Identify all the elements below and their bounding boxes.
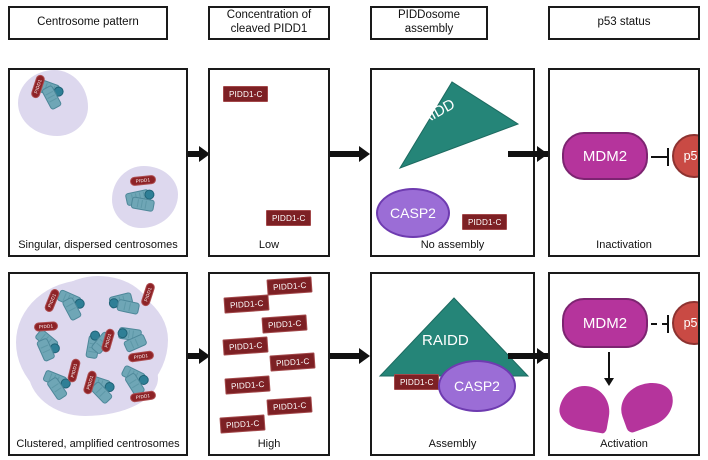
pidd1-label: PIDD1 bbox=[86, 375, 95, 390]
pidd1c-tag: PIDD1-C bbox=[224, 375, 270, 394]
pidd1c-tag: PIDD1-C bbox=[394, 374, 439, 390]
p53-label: p53 bbox=[684, 149, 700, 163]
pidd1c-tag: PIDD1-C bbox=[266, 210, 311, 226]
panel-caption: Assembly bbox=[372, 438, 533, 450]
cleavage-arrow bbox=[604, 352, 614, 388]
pidd1c-tag: PIDD1-C bbox=[219, 414, 265, 433]
panel-caption: Inactivation bbox=[550, 239, 698, 251]
header-label-line1: Concentration of bbox=[227, 9, 311, 23]
pidd1c-label: PIDD1-C bbox=[272, 214, 305, 223]
pidd1-label: PIDD1 bbox=[70, 363, 78, 378]
mdm2-shape: MDM2 bbox=[562, 132, 648, 180]
header-label-line1: PIDDosome bbox=[398, 9, 460, 23]
mdm2-fragment bbox=[557, 382, 614, 434]
pidd1c-tag: PIDD1-C bbox=[266, 396, 312, 415]
inhibition-line-dashed bbox=[651, 323, 668, 325]
inhibition-line bbox=[651, 156, 668, 158]
inhibition-bar bbox=[667, 315, 669, 333]
pidd1c-label: PIDD1-C bbox=[229, 90, 262, 99]
raidd-label: RAIDD bbox=[422, 332, 469, 349]
panel-caption: Activation bbox=[550, 438, 698, 450]
pidd1c-label: PIDD1-C bbox=[273, 280, 307, 291]
pidd1c-label: PIDD1-C bbox=[229, 340, 263, 351]
casp2-label: CASP2 bbox=[454, 378, 500, 394]
p53-shape: p53 bbox=[672, 301, 700, 345]
panel-assembly-row-normal: RAIDD CASP2 PIDD1-C No assembly bbox=[370, 68, 535, 257]
pidd1-label: PIDD1 bbox=[133, 353, 148, 360]
panel-p53-row-amplified: MDM2 p53 Activation bbox=[548, 272, 700, 456]
pidd1c-label: PIDD1-C bbox=[231, 379, 265, 390]
pidd1-label: PIDD1 bbox=[39, 323, 54, 329]
pidd1c-label: PIDD1-C bbox=[273, 400, 307, 411]
figure-canvas: Centrosome pattern Concentration of clea… bbox=[0, 0, 708, 460]
pidd1-tag: PIDD1 bbox=[34, 321, 59, 332]
pidd1c-label: PIDD1-C bbox=[400, 378, 433, 387]
casp2-label: CASP2 bbox=[390, 205, 436, 221]
mdm2-label: MDM2 bbox=[583, 148, 627, 165]
header-label-line2: assembly bbox=[398, 23, 460, 37]
pidd1c-label: PIDD1-C bbox=[468, 218, 501, 227]
pidd1-label: PIDD1 bbox=[135, 393, 150, 400]
panel-caption: Singular, dispersed centrosomes bbox=[10, 239, 186, 251]
casp2-shape: CASP2 bbox=[438, 360, 516, 412]
mdm2-shape: MDM2 bbox=[562, 298, 648, 348]
pidd1c-tag: PIDD1-C bbox=[222, 336, 268, 355]
panel-caption: Clustered, amplified centrosomes bbox=[10, 438, 186, 450]
panel-assembly-row-amplified: RAIDD PIDD1-C CASP2 Assembly bbox=[370, 272, 535, 456]
pidd1c-label: PIDD1-C bbox=[230, 298, 264, 309]
header-label: p53 status bbox=[597, 16, 650, 30]
header-label-line2: cleaved PIDD1 bbox=[227, 23, 311, 37]
header-centrosome-pattern: Centrosome pattern bbox=[8, 6, 168, 40]
mdm2-label: MDM2 bbox=[583, 315, 627, 332]
mdm2-fragment bbox=[614, 376, 679, 434]
panel-caption: No assembly bbox=[372, 239, 533, 251]
header-piddosome-assembly: PIDDosome assembly bbox=[370, 6, 488, 40]
inhibition-bar bbox=[667, 148, 669, 166]
centriole bbox=[130, 196, 155, 212]
panel-p53-row-normal: MDM2 p53 Inactivation bbox=[548, 68, 700, 257]
p53-shape: p53 bbox=[672, 134, 700, 178]
pidd1c-tag: PIDD1-C bbox=[266, 276, 312, 295]
flow-arrow bbox=[498, 348, 548, 364]
pidd1-tag: PIDD1 bbox=[140, 282, 156, 308]
header-pidd1-concentration: Concentration of cleaved PIDD1 bbox=[208, 6, 330, 40]
pidd1c-label: PIDD1-C bbox=[226, 418, 260, 429]
pidd1-label: PIDD1 bbox=[143, 287, 152, 302]
panel-concentration-row-normal: PIDD1-C PIDD1-C Low bbox=[208, 68, 330, 257]
flow-arrow bbox=[330, 348, 370, 364]
pidd1c-tag: PIDD1-C bbox=[223, 86, 268, 102]
header-label: Centrosome pattern bbox=[37, 16, 139, 30]
pidd1c-tag: PIDD1-C bbox=[261, 314, 307, 333]
panel-concentration-row-amplified: PIDD1-C PIDD1-C PIDD1-C PIDD1-C PIDD1-C … bbox=[208, 272, 330, 456]
pidd1c-tag: PIDD1-C bbox=[223, 294, 269, 313]
pidd1-label: PIDD1 bbox=[104, 333, 113, 348]
flow-arrow bbox=[188, 146, 208, 162]
header-p53-status: p53 status bbox=[548, 6, 700, 40]
pidd1-label: PIDD1 bbox=[136, 177, 151, 183]
pidd1c-label: PIDD1-C bbox=[276, 356, 310, 367]
p53-label: p53 bbox=[684, 316, 700, 330]
panel-caption: High bbox=[210, 438, 328, 450]
pidd1c-label: PIDD1-C bbox=[268, 318, 302, 329]
panel-caption: Low bbox=[210, 239, 328, 251]
flow-arrow bbox=[188, 348, 208, 364]
panel-centrosome-row-amplified: PIDD1 PIDD1 PIDD1 PIDD1 PIDD bbox=[8, 272, 188, 456]
pidd1c-tag: PIDD1-C bbox=[269, 352, 315, 371]
pidd1c-tag: PIDD1-C bbox=[462, 214, 507, 230]
flow-arrow bbox=[330, 146, 370, 162]
casp2-shape: CASP2 bbox=[376, 188, 450, 238]
flow-arrow bbox=[498, 146, 548, 162]
panel-centrosome-row-normal: PIDD1 PIDD1 Singular, dispersed centroso… bbox=[8, 68, 188, 257]
